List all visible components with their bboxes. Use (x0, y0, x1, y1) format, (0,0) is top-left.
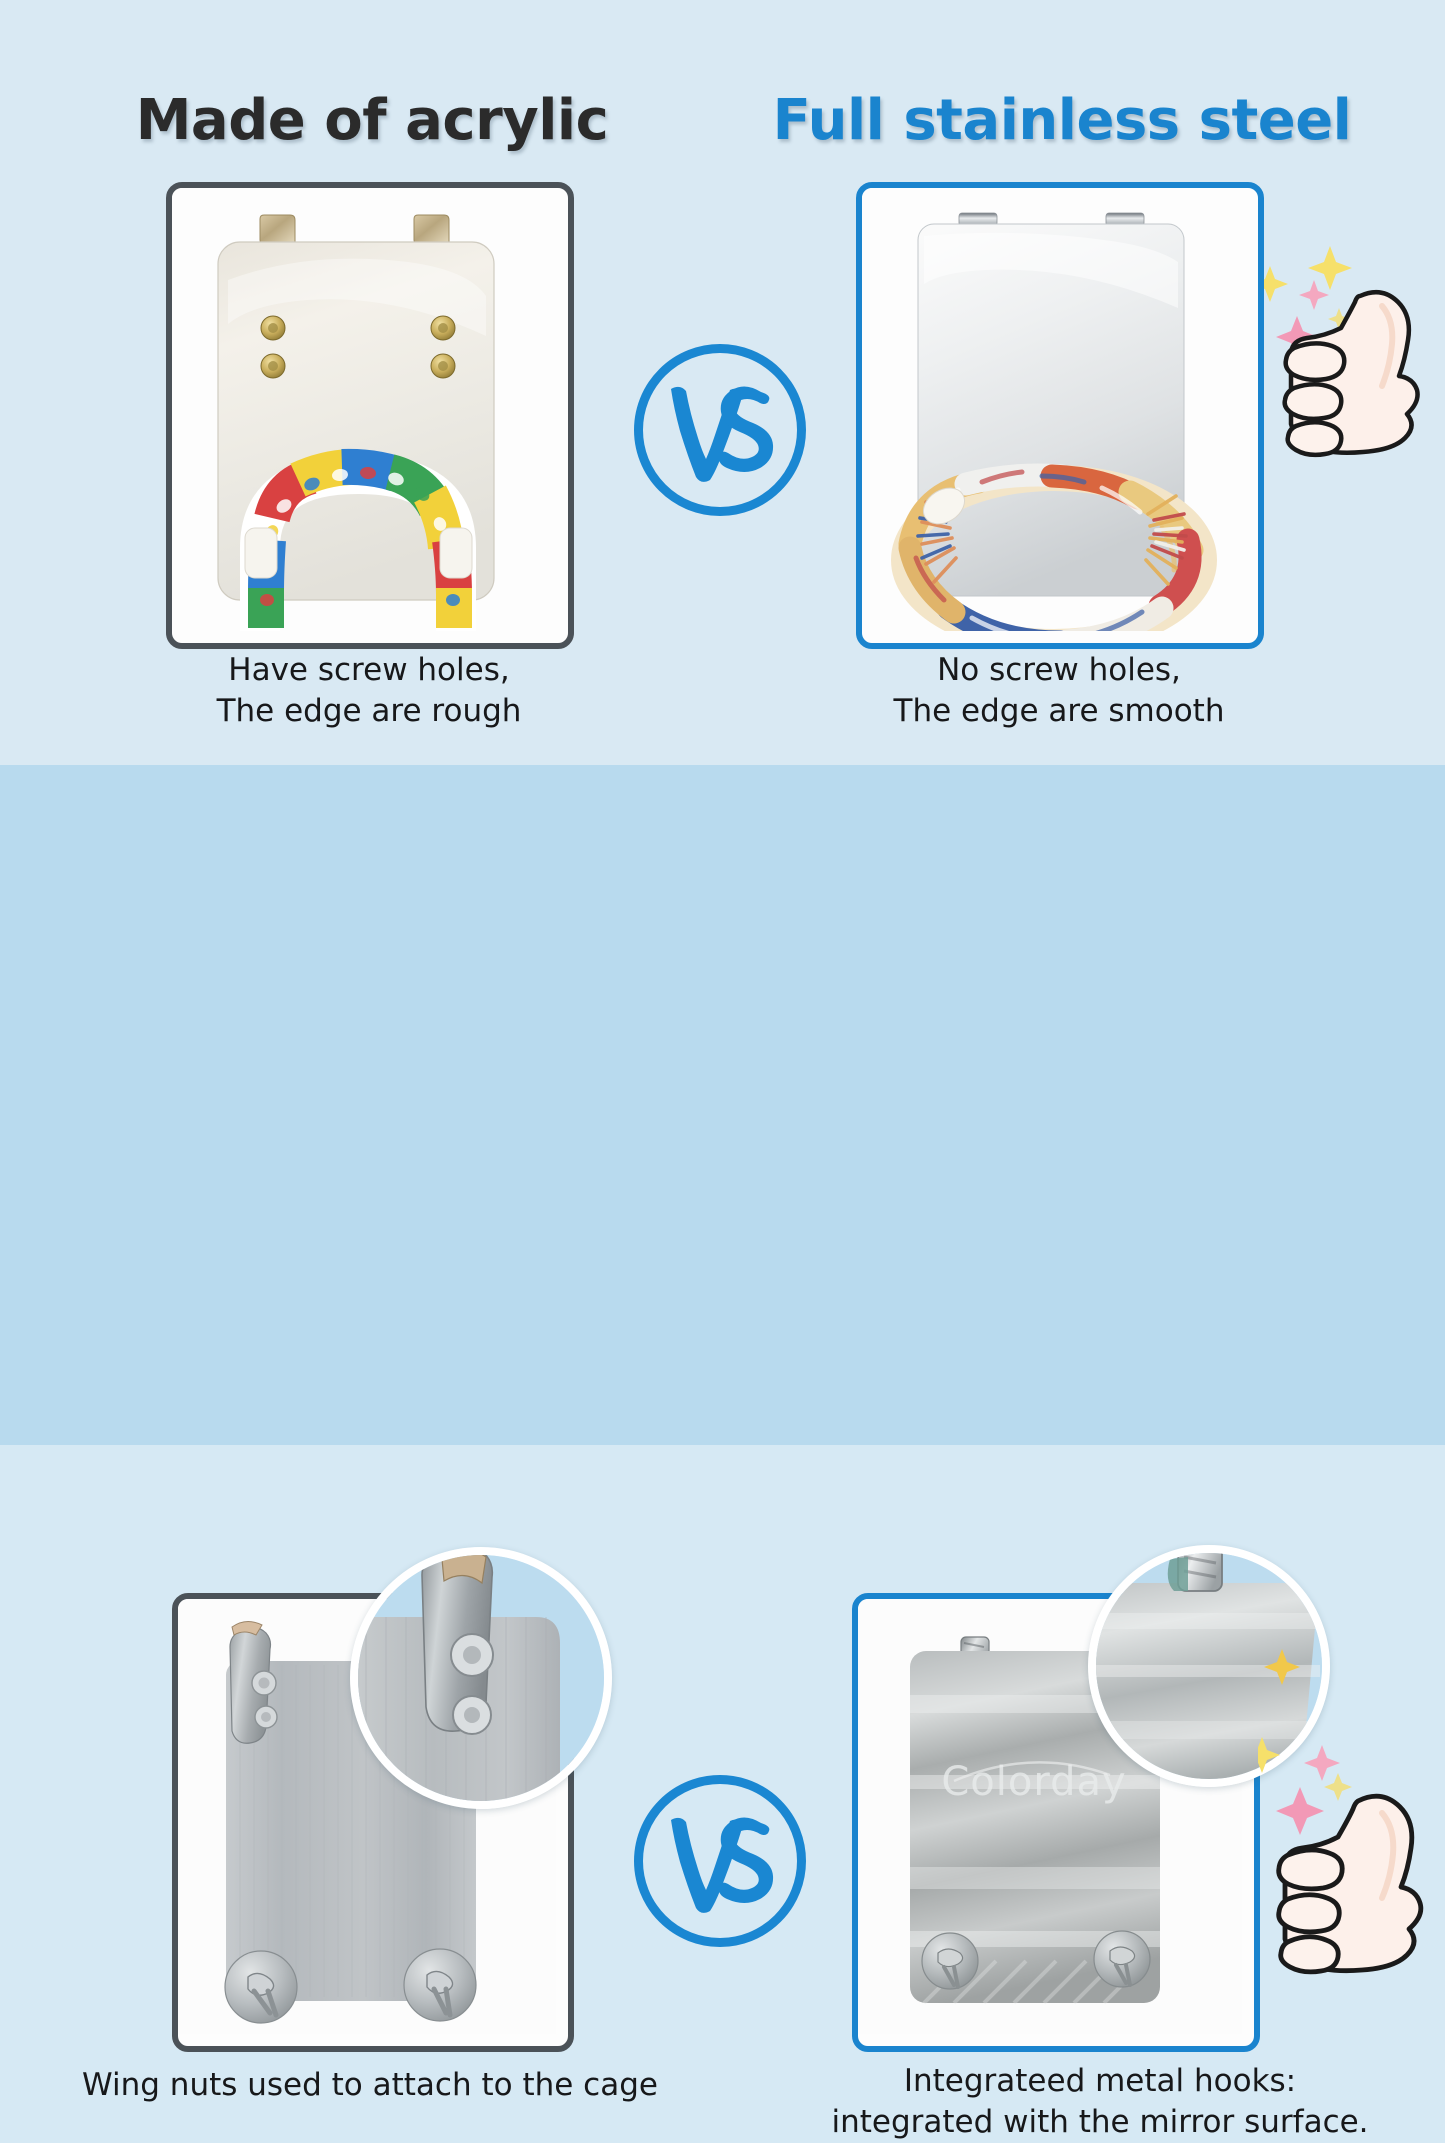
caption-line: Integrateed metal hooks: (790, 2061, 1410, 2102)
caption-line: The edge are smooth (824, 691, 1294, 732)
heading-right-stainless: Full stainless steel (752, 88, 1372, 153)
versus-brush-text (643, 1784, 797, 1938)
thumbs-up-icon-top (1264, 236, 1440, 506)
versus-badge-top (634, 344, 806, 516)
stainless-mirror-photo (862, 188, 1258, 643)
thumbs-up-glyph (1258, 1731, 1440, 2017)
brand-etch: Colorday (941, 1759, 1126, 1805)
hook-closeup-illustration (358, 1555, 604, 1801)
wing-nut-left (225, 1951, 297, 2023)
versus-brush-text (643, 353, 797, 507)
caption-wing-nuts: Wing nuts used to attach to the cage (60, 2065, 680, 2106)
mount-nut-left (922, 1933, 978, 1989)
heading-left-acrylic: Made of acrylic (62, 88, 682, 153)
caption-line: No screw holes, (824, 650, 1294, 691)
photo-card-stainless-front[interactable] (856, 182, 1264, 649)
magnifier-circle-icon-left (350, 1547, 612, 1809)
thumbs-up-icon-bottom (1258, 1731, 1440, 2017)
caption-integrated-hooks: Integrateed metal hooks: integrated with… (790, 2061, 1410, 2143)
acrylic-mirror-photo (172, 188, 568, 643)
mount-nut-right (1094, 1931, 1150, 1987)
thumbs-up-glyph (1264, 236, 1440, 506)
versus-badge-bottom (634, 1775, 806, 1947)
caption-line: The edge are rough (134, 691, 604, 732)
hand-shape (1285, 292, 1418, 455)
sparkle-icon-group (1258, 1737, 1352, 1835)
wing-nut-right (404, 1949, 476, 2021)
caption-line: Wing nuts used to attach to the cage (60, 2065, 680, 2106)
photo-card-acrylic-front[interactable] (166, 182, 574, 649)
comparison-row-material: Made of acrylic Full stainless steel (0, 0, 1445, 765)
caption-stainless: No screw holes, The edge are smooth (824, 650, 1294, 732)
acrylic-mirror-illustration (172, 188, 556, 631)
comparison-row-mounting: Colorday (0, 765, 1445, 1445)
stainless-mirror-illustration (862, 188, 1246, 631)
caption-line: Have screw holes, (134, 650, 604, 691)
caption-line: integrated with the mirror surface. (790, 2102, 1410, 2143)
caption-acrylic: Have screw holes, The edge are rough (134, 650, 604, 732)
